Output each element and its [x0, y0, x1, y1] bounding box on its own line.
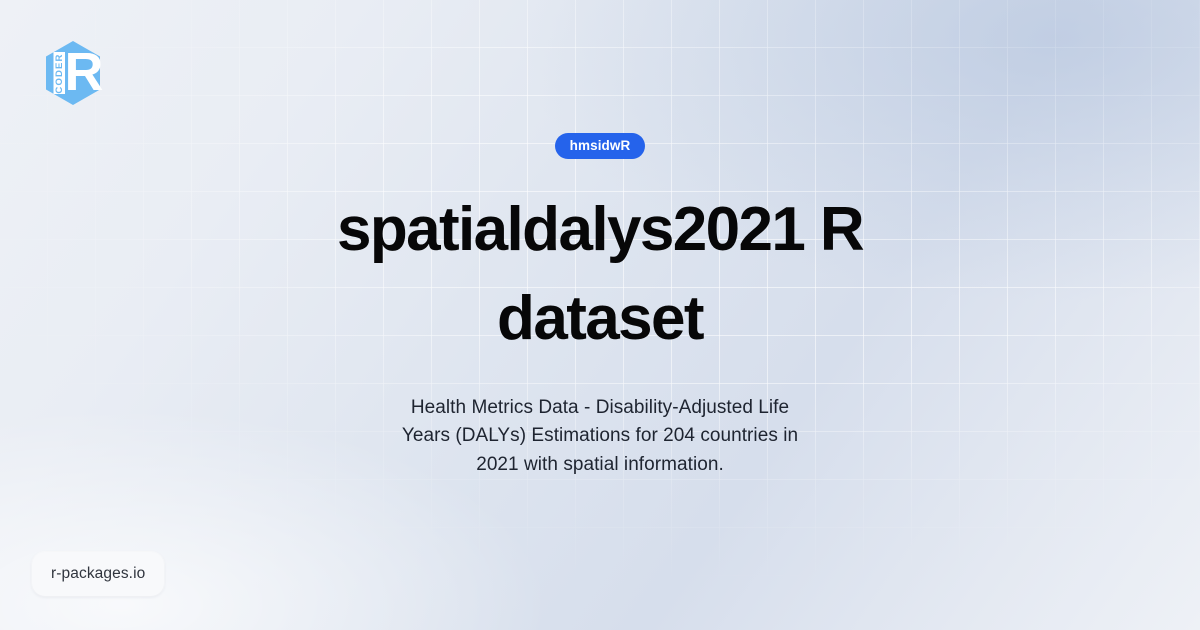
page-title: spatialdalys2021 R dataset	[280, 185, 920, 364]
package-name-badge: hmsidwR	[555, 133, 646, 159]
site-url-badge: r-packages.io	[32, 552, 164, 596]
og-card: CODER R hmsidwR spatialdalys2021 R datas…	[0, 0, 1200, 630]
hero-content: hmsidwR spatialdalys2021 R dataset Healt…	[0, 0, 1200, 630]
page-subtitle: Health Metrics Data - Disability-Adjuste…	[398, 394, 802, 480]
